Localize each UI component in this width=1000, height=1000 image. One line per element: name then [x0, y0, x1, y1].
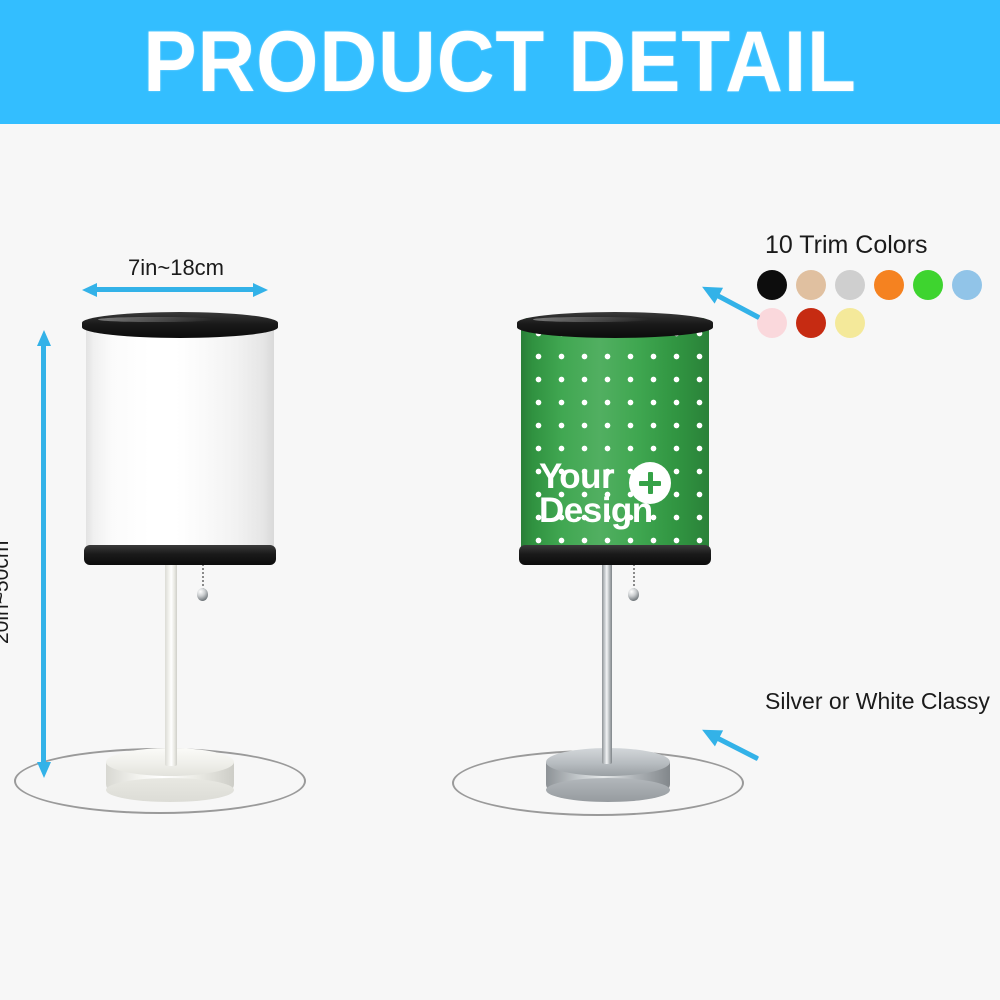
lamp-pole-white [165, 556, 177, 766]
arrow-head-bottom [37, 762, 51, 778]
swatch-yellow[interactable] [835, 308, 865, 338]
arrow-shaft [94, 287, 256, 292]
product-detail-page: PRODUCT DETAIL [0, 0, 1000, 1000]
lampshade-trim-bottom-right [519, 545, 711, 565]
swatch-light-gray[interactable] [835, 270, 865, 300]
lampshade-green: Your Design [521, 318, 709, 558]
lampshade-trim-top-right [517, 312, 713, 338]
base-bottom-edge [546, 778, 670, 802]
swatch-light-blue[interactable] [952, 270, 982, 300]
lampshade-white [86, 318, 274, 558]
base-bottom-edge [106, 778, 234, 802]
arrow-shaft [716, 293, 761, 320]
trim-color-swatches[interactable] [757, 270, 1000, 338]
lampshade-trim-bottom-left [84, 545, 276, 565]
width-dimension-label: 7in~18cm [128, 255, 224, 281]
swatch-orange[interactable] [874, 270, 904, 300]
arrow-head-right [253, 283, 268, 297]
trim-colors-title: 10 Trim Colors [765, 231, 928, 260]
height-dimension-arrow [37, 330, 51, 778]
swatch-green[interactable] [913, 270, 943, 300]
arrow-head [698, 279, 723, 304]
lampshade-trim-top-left [82, 312, 278, 338]
height-dimension-label: 20in~50cm [0, 541, 14, 644]
page-title: PRODUCT DETAIL [35, 0, 965, 124]
arrow-shaft [41, 343, 46, 765]
base-material-label: Silver or White Classy [765, 688, 990, 715]
header-banner: PRODUCT DETAIL [0, 0, 1000, 124]
trim-highlight [533, 317, 651, 323]
pull-chain-ball-left [197, 588, 208, 601]
plus-icon [629, 462, 671, 504]
swatch-black[interactable] [757, 270, 787, 300]
swatch-tan[interactable] [796, 270, 826, 300]
trim-highlight [98, 317, 216, 323]
pull-chain-ball-right [628, 588, 639, 601]
arrow-shaft [716, 736, 759, 761]
arrow-head [698, 722, 723, 747]
swatch-dark-red[interactable] [796, 308, 826, 338]
width-dimension-arrow [82, 283, 268, 297]
lamp-pole-silver [602, 556, 612, 764]
lampshade-surface [86, 318, 274, 558]
swatch-pink[interactable] [757, 308, 787, 338]
design-line-2: Design [539, 494, 653, 528]
